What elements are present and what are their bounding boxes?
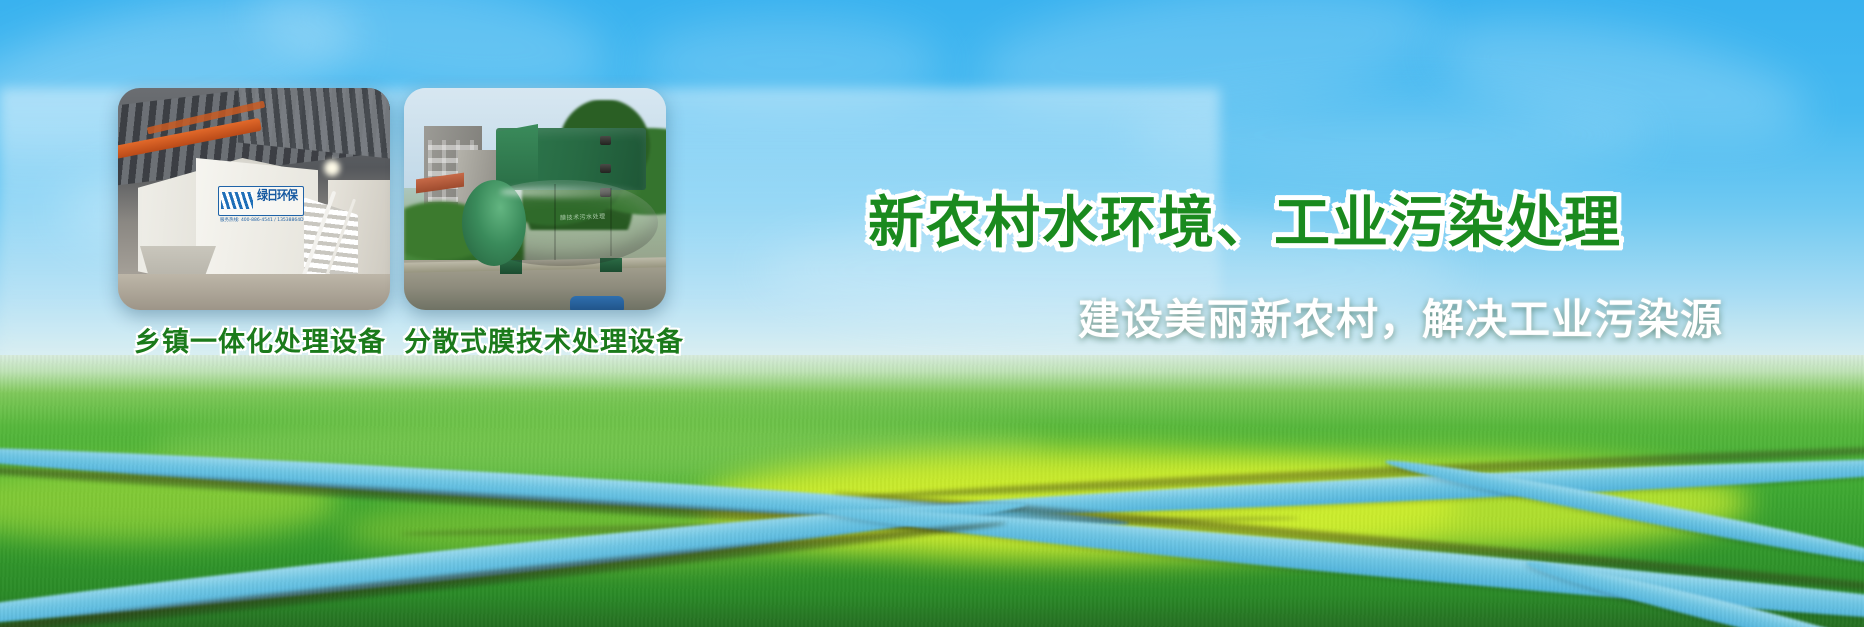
ceiling-lamp-icon [324,160,340,176]
promo-banner: 绿日环保 服务热线: 400-886-4541 / 13538864DWW2 [0,0,1864,627]
photo-caption-1: 乡镇一体化处理设备 [134,320,386,359]
river [1383,452,1864,578]
factory-interior: 绿日环保 服务热线: 400-886-4541 / 13538864DWW2 [118,88,390,310]
photo-caption-2: 分散式膜技术处理设备 [404,320,684,359]
river [0,489,1028,627]
cloud-icon [1424,0,1816,162]
banner-headline: 新农村水环境、工业污染处理 [868,178,1622,259]
meadow-patch [0,463,340,541]
river-bank [400,513,1300,539]
tank-label-text: 膜技术污水处理 [560,211,606,222]
river-bank [0,458,1119,544]
product-photo-membrane-equipment[interactable]: 膜技术污水处理 [404,88,666,310]
meadow-patch [1130,455,1750,550]
river [860,448,1864,526]
river-bank [0,516,1008,627]
outdoor-scene: 膜技术污水处理 [404,88,666,310]
brand-stripes-icon [221,192,253,209]
meadow-patch [700,450,1460,560]
product-photo-integrated-equipment[interactable]: 绿日环保 服务热线: 400-886-4541 / 13538864DWW2 [118,88,390,310]
equipment-front-face [196,158,318,293]
wetland-landscape [0,355,1864,627]
factory-floor [118,274,390,310]
river-bank [832,487,1864,611]
meadow-patch [340,495,900,565]
banner-subheadline: 建设美丽新农村，解决工业污染源 [1078,286,1723,347]
tank-weld-seam [554,184,556,260]
brand-hotline-text: 服务热线: 400-886-4541 / 13538864DWW2 [220,217,306,223]
valve-icon [600,136,611,145]
river [1524,553,1864,627]
brand-name-text: 绿日环保 [257,189,297,203]
tank-upper-face [496,124,538,190]
tank-weld-seam [610,188,612,256]
meadow-patch [150,415,1050,485]
valve-icon [600,164,611,173]
tank-highlight [500,186,640,198]
blue-barrel [570,296,624,310]
river-bank [860,439,1864,503]
river [821,496,1864,627]
river [0,436,1130,536]
